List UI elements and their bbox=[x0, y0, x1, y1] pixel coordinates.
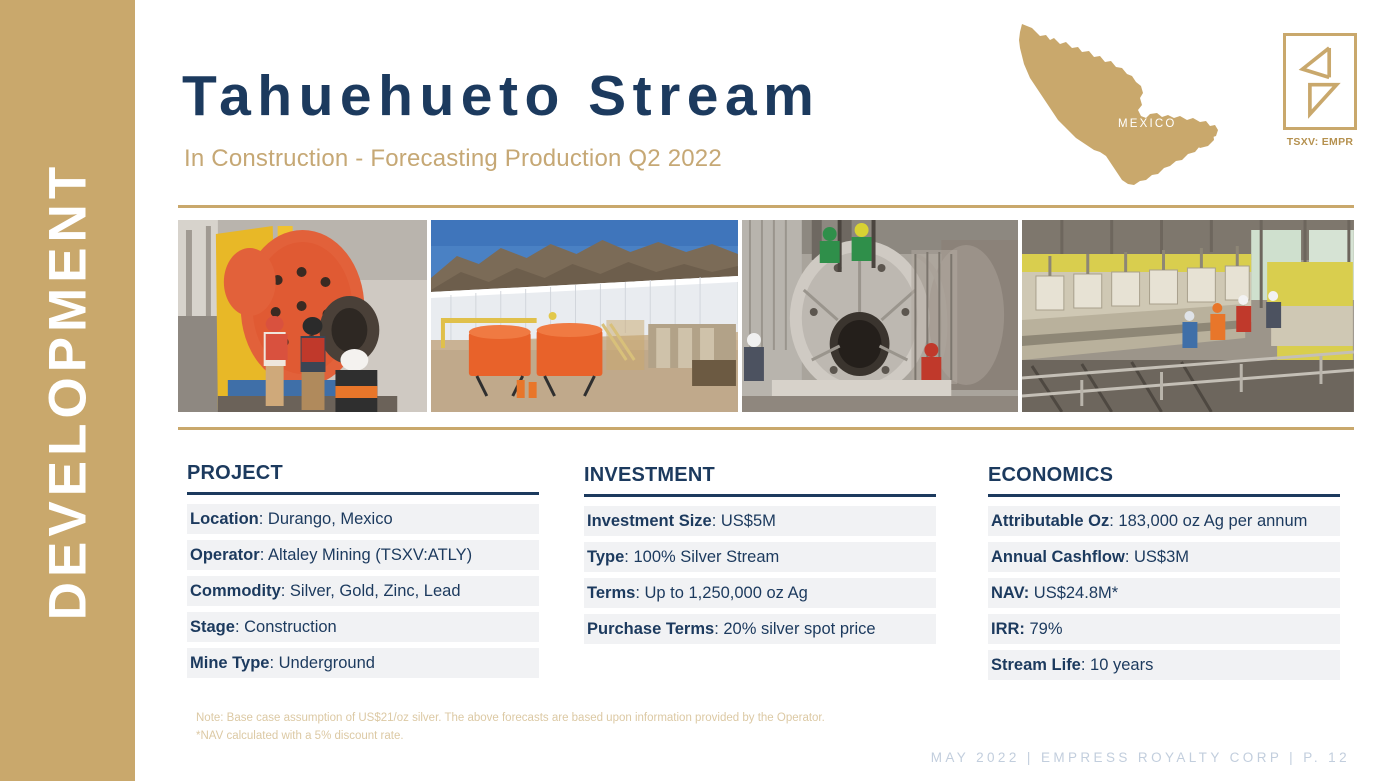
row-key: Purchase Terms bbox=[587, 620, 714, 638]
table-row: Annual Cashflow: US$3M bbox=[988, 542, 1340, 572]
table-row: NAV: US$24.8M* bbox=[988, 578, 1340, 608]
row-value: : Construction bbox=[235, 618, 337, 636]
table-row: Stream Life: 10 years bbox=[988, 650, 1340, 680]
row-key: NAV: bbox=[991, 584, 1029, 602]
table-row: Commodity: Silver, Gold, Zinc, Lead bbox=[187, 576, 539, 606]
photo-ball-mill-with-workers bbox=[178, 220, 427, 412]
column-underline-economics bbox=[988, 494, 1340, 497]
row-key: Terms bbox=[587, 584, 635, 602]
table-row: Type: 100% Silver Stream bbox=[584, 542, 936, 572]
table-row: Purchase Terms: 20% silver spot price bbox=[584, 614, 936, 644]
slide-root: DEVELOPMENT Tahuehueto Stream In Constru… bbox=[0, 0, 1387, 781]
column-economics: ECONOMICS Attributable Oz: 183,000 oz Ag… bbox=[988, 464, 1340, 686]
row-value: : 10 years bbox=[1081, 656, 1153, 674]
row-value: US$24.8M* bbox=[1029, 584, 1118, 602]
column-title-investment: INVESTMENT bbox=[584, 464, 936, 494]
page-title: Tahuehueto Stream bbox=[182, 68, 820, 125]
page-subtitle: In Construction - Forecasting Production… bbox=[184, 145, 722, 173]
photo-strip bbox=[178, 220, 1354, 412]
row-value: : Durango, Mexico bbox=[259, 510, 393, 528]
footnote-line-2: *NAV calculated with a 5% discount rate. bbox=[196, 728, 825, 746]
column-title-project: PROJECT bbox=[187, 462, 539, 492]
table-row: Location: Durango, Mexico bbox=[187, 504, 539, 534]
table-row: Attributable Oz: 183,000 oz Ag per annum bbox=[988, 506, 1340, 536]
column-project: PROJECT Location: Durango, Mexico Operat… bbox=[187, 462, 539, 684]
footnote-line-1: Note: Base case assumption of US$21/oz s… bbox=[196, 710, 825, 728]
row-key: Type bbox=[587, 548, 624, 566]
row-value: : 183,000 oz Ag per annum bbox=[1109, 512, 1307, 530]
row-key: Location bbox=[190, 510, 259, 528]
row-key: IRR: bbox=[991, 620, 1025, 638]
row-value: : Up to 1,250,000 oz Ag bbox=[635, 584, 807, 602]
photo-orange-tanks-and-mountains bbox=[431, 220, 738, 412]
row-key: Mine Type bbox=[190, 654, 269, 672]
column-underline-project bbox=[187, 492, 539, 495]
photo-mill-shell-installation bbox=[742, 220, 1018, 412]
sidebar-section-label: DEVELOPMENT bbox=[37, 161, 98, 619]
row-value: : 100% Silver Stream bbox=[624, 548, 779, 566]
empress-chevron-icon bbox=[1286, 36, 1354, 127]
column-underline-investment bbox=[584, 494, 936, 497]
row-key: Stage bbox=[190, 618, 235, 636]
row-value: : Underground bbox=[269, 654, 375, 672]
table-row: IRR: 79% bbox=[988, 614, 1340, 644]
row-value: : Silver, Gold, Zinc, Lead bbox=[281, 582, 461, 600]
logo-frame bbox=[1283, 33, 1357, 130]
row-value: : US$3M bbox=[1125, 548, 1189, 566]
column-investment: INVESTMENT Investment Size: US$5M Type: … bbox=[584, 464, 936, 650]
mexico-map-graphic: MEXICO bbox=[1010, 18, 1240, 203]
row-key: Commodity bbox=[190, 582, 281, 600]
table-row: Mine Type: Underground bbox=[187, 648, 539, 678]
slide-footer: MAY 2022 | EMPRESS ROYALTY CORP | P. 12 bbox=[931, 750, 1350, 765]
row-key: Operator bbox=[190, 546, 260, 564]
stock-ticker-label: TSXV: EMPR bbox=[1283, 136, 1357, 148]
map-country-label: MEXICO bbox=[1118, 118, 1177, 130]
table-row: Investment Size: US$5M bbox=[584, 506, 936, 536]
sidebar-section-band: DEVELOPMENT bbox=[0, 0, 135, 781]
row-key: Investment Size bbox=[587, 512, 712, 530]
photo-flotation-cell-plant-interior bbox=[1022, 220, 1354, 412]
row-key: Annual Cashflow bbox=[991, 548, 1125, 566]
row-key: Stream Life bbox=[991, 656, 1081, 674]
table-row: Operator: Altaley Mining (TSXV:ATLY) bbox=[187, 540, 539, 570]
mexico-map-icon bbox=[1010, 18, 1240, 203]
row-value: : 20% silver spot price bbox=[714, 620, 875, 638]
table-row: Terms: Up to 1,250,000 oz Ag bbox=[584, 578, 936, 608]
divider-rule-top bbox=[178, 205, 1354, 208]
column-title-economics: ECONOMICS bbox=[988, 464, 1340, 494]
row-value: : US$5M bbox=[712, 512, 776, 530]
table-row: Stage: Construction bbox=[187, 612, 539, 642]
divider-rule-bottom bbox=[178, 427, 1354, 430]
footnote: Note: Base case assumption of US$21/oz s… bbox=[196, 710, 825, 746]
company-logo: TSXV: EMPR bbox=[1283, 33, 1357, 148]
row-value: 79% bbox=[1025, 620, 1063, 638]
row-value: : Altaley Mining (TSXV:ATLY) bbox=[260, 546, 472, 564]
row-key: Attributable Oz bbox=[991, 512, 1109, 530]
